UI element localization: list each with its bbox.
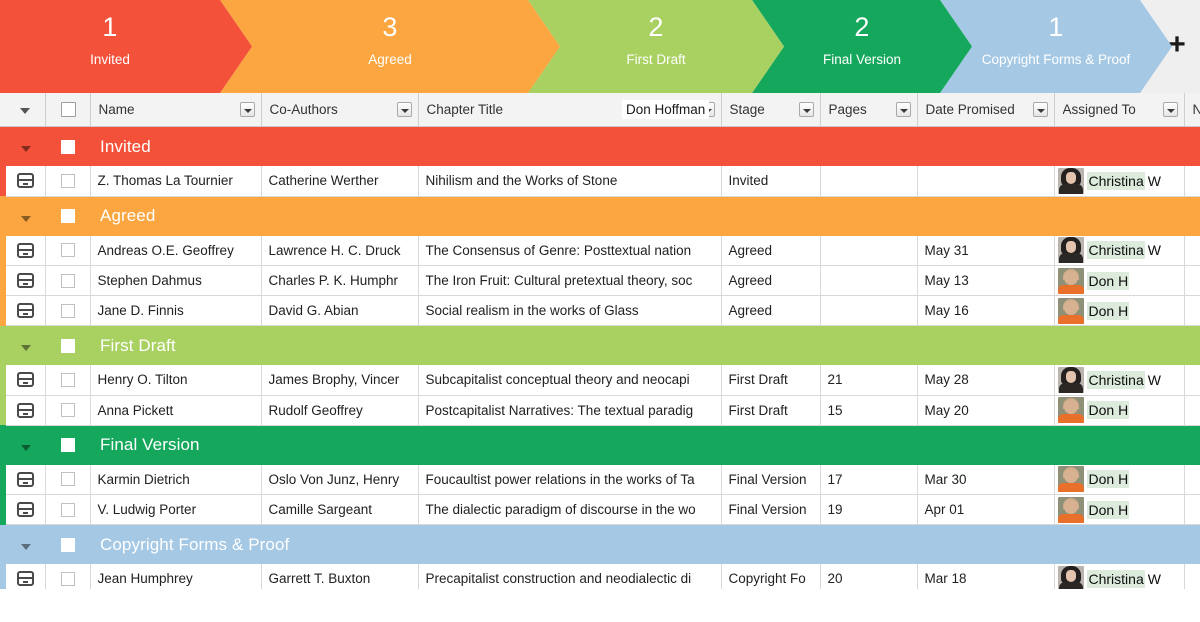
cell-notes[interactable]	[1184, 236, 1200, 266]
row-select-checkbox[interactable]	[61, 503, 75, 517]
assigned-to-name: Don H	[1087, 501, 1130, 519]
group-title-label: Copyright Forms & Proof	[90, 535, 289, 554]
cell-coauthors[interactable]: Charles P. K. Humphr	[261, 266, 418, 296]
funnel-stage-count: 1	[0, 12, 220, 42]
row-select-checkbox-cell[interactable]	[45, 465, 90, 495]
group-select-checkbox-cell[interactable]	[45, 525, 90, 565]
cell-coauthors-text: Lawrence H. C. Druck	[262, 243, 418, 258]
assigned-to-name-overflow: W	[1145, 571, 1161, 587]
cell-stage[interactable]: Invited	[721, 166, 820, 196]
cell-stage-text: Final Version	[722, 502, 820, 517]
christina-avatar	[1058, 168, 1084, 194]
caret-down-icon[interactable]	[6, 326, 45, 365]
cell-assigned-to[interactable]: Don H	[1054, 266, 1184, 296]
group-row-final-version[interactable]: Final Version	[0, 425, 1200, 465]
assigned-to-name: Don H	[1087, 470, 1130, 488]
cell-coauthors[interactable]: Oslo Von Junz, Henry	[261, 465, 418, 495]
cell-chapter-title[interactable]: Postcapitalist Narratives: The textual p…	[418, 395, 721, 425]
column-header-label: No	[1193, 102, 1200, 117]
column-header-select[interactable]	[45, 93, 90, 127]
cell-notes[interactable]	[1184, 166, 1200, 196]
cell-chapter-title[interactable]: Foucaultist power relations in the works…	[418, 465, 721, 495]
christina-avatar	[1058, 566, 1084, 592]
row-expand-cell[interactable]	[6, 296, 45, 326]
cell-notes[interactable]	[1184, 296, 1200, 326]
column-header-coauth[interactable]: Co-Authors	[261, 93, 418, 127]
cell-name-text: Jane D. Finnis	[91, 303, 261, 318]
group-title-cell: First Draft	[90, 326, 1200, 366]
group-title-label: Final Version	[90, 435, 200, 454]
cell-pages[interactable]	[820, 266, 917, 296]
cell-chapter-title-text: Foucaultist power relations in the works…	[419, 472, 721, 487]
cell-chapter-title-text: The Consensus of Genre: Posttextual nati…	[419, 243, 721, 258]
cell-name[interactable]: Stephen Dahmus	[90, 266, 261, 296]
card-view-icon[interactable]	[17, 303, 34, 318]
cell-stage[interactable]: Agreed	[721, 236, 820, 266]
column-header-notes[interactable]: No	[1184, 93, 1200, 127]
table-row[interactable]: Anna PickettRudolf GeoffreyPostcapitalis…	[0, 395, 1200, 425]
cell-chapter-title[interactable]: Subcapitalist conceptual theory and neoc…	[418, 365, 721, 395]
cell-date-promised-text: Mar 18	[918, 571, 1054, 586]
funnel-stage-count: 1	[972, 12, 1140, 42]
caret-down-icon[interactable]	[6, 426, 45, 465]
group-title-label: Invited	[90, 137, 151, 156]
cell-name-text: Z. Thomas La Tournier	[91, 173, 261, 188]
table-row[interactable]: Karmin DietrichOslo Von Junz, HenryFouca…	[0, 465, 1200, 495]
row-select-checkbox-cell[interactable]	[45, 266, 90, 296]
cell-assigned-to[interactable]: ChristinaW	[1054, 365, 1184, 395]
caret-down-icon[interactable]	[6, 127, 45, 166]
row-sort-caret-icon[interactable]	[6, 93, 45, 126]
assigned-to-name: Christina	[1087, 172, 1145, 190]
group-collapse-toggle[interactable]	[6, 425, 45, 465]
cell-name[interactable]: Jane D. Finnis	[90, 296, 261, 326]
don-avatar	[1058, 497, 1084, 523]
row-select-checkbox-cell[interactable]	[45, 166, 90, 196]
cell-date-promised-text: May 13	[918, 273, 1054, 288]
cell-pages[interactable]	[820, 166, 917, 196]
table-row[interactable]: V. Ludwig PorterCamille SargeantThe dial…	[0, 495, 1200, 525]
cell-date-promised-text: Apr 01	[918, 502, 1054, 517]
cell-stage-text: Final Version	[722, 472, 820, 487]
cell-notes[interactable]	[1184, 495, 1200, 525]
group-select-checkbox-cell[interactable]	[45, 196, 90, 236]
group-collapse-toggle[interactable]	[6, 196, 45, 236]
cell-coauthors[interactable]: Lawrence H. C. Druck	[261, 236, 418, 266]
funnel-stage-label: First Draft	[560, 51, 752, 68]
assigned-to-name: Don H	[1087, 401, 1130, 419]
cell-chapter-title-text: Social realism in the works of Glass	[419, 303, 721, 318]
group-collapse-toggle[interactable]	[6, 326, 45, 366]
group-title-cell: Copyright Forms & Proof	[90, 525, 1200, 565]
row-expand-cell[interactable]	[6, 365, 45, 395]
cell-coauthors-text: James Brophy, Vincer	[262, 372, 418, 387]
group-title-cell: Final Version	[90, 425, 1200, 465]
cell-chapter-title-text: The dialectic paradigm of discourse in t…	[419, 502, 721, 517]
group-row-invited[interactable]: Invited	[0, 127, 1200, 167]
cell-pages-text: 15	[821, 403, 917, 418]
chevron-down-icon[interactable]	[896, 102, 911, 117]
cell-chapter-title[interactable]: The Iron Fruit: Cultural pretextual theo…	[418, 266, 721, 296]
column-header-pages[interactable]: Pages	[820, 93, 917, 127]
cell-date-promised[interactable]: May 16	[917, 296, 1054, 326]
cell-chapter-title[interactable]: Nihilism and the Works of Stone	[418, 166, 721, 196]
stage-funnel-header: 1Invited3Agreed2First Draft2Final Versio…	[0, 0, 1200, 93]
cell-name-text: Stephen Dahmus	[91, 273, 261, 288]
cell-chapter-title-text: Nihilism and the Works of Stone	[419, 173, 721, 188]
cell-stage-text: Agreed	[722, 303, 820, 318]
caret-down-icon[interactable]	[6, 197, 45, 236]
cell-pages-text: 20	[821, 571, 917, 586]
cell-stage[interactable]: Agreed	[721, 266, 820, 296]
chevron-down-icon[interactable]	[1033, 102, 1048, 117]
group-select-checkbox-cell[interactable]	[45, 425, 90, 465]
row-select-checkbox-cell[interactable]	[45, 495, 90, 525]
group-collapse-toggle[interactable]	[6, 127, 45, 167]
cell-stage-text: Agreed	[722, 273, 820, 288]
cell-assigned-to[interactable]: Don H	[1054, 495, 1184, 525]
cell-stage-text: First Draft	[722, 372, 820, 387]
cell-stage-text: First Draft	[722, 403, 820, 418]
funnel-stage-copyright-forms-proof[interactable]: 1Copyright Forms & Proof	[940, 0, 1172, 93]
column-header-stage[interactable]: Stage	[721, 93, 820, 127]
row-select-checkbox-cell[interactable]	[45, 296, 90, 326]
column-header-label: Pages	[829, 102, 867, 117]
chevron-down-icon[interactable]	[240, 102, 255, 117]
column-header-label: Assigned To	[1063, 102, 1136, 117]
card-view-icon[interactable]	[17, 273, 34, 288]
group-collapse-toggle[interactable]	[6, 525, 45, 565]
funnel-stage-count: 2	[784, 12, 940, 42]
row-select-checkbox-cell[interactable]	[45, 236, 90, 266]
table-row[interactable]: Henry O. TiltonJames Brophy, VincerSubca…	[0, 365, 1200, 395]
row-expand-cell[interactable]	[6, 495, 45, 525]
card-view-icon[interactable]	[17, 571, 34, 586]
column-header-label: Stage	[730, 102, 765, 117]
row-select-checkbox[interactable]	[61, 243, 75, 257]
cell-notes[interactable]	[1184, 266, 1200, 296]
group-title-label: First Draft	[90, 336, 176, 355]
cell-coauthors[interactable]: David G. Abian	[261, 296, 418, 326]
cell-date-promised-text: Mar 30	[918, 472, 1054, 487]
cell-assigned-to[interactable]: ChristinaW	[1054, 166, 1184, 196]
row-select-checkbox[interactable]	[61, 304, 75, 318]
cell-stage-text: Agreed	[722, 243, 820, 258]
chevron-down-icon[interactable]	[799, 102, 814, 117]
table-row[interactable]: Andreas O.E. GeoffreyLawrence H. C. Druc…	[0, 236, 1200, 266]
column-header-date[interactable]: Date Promised	[917, 93, 1054, 127]
cell-coauthors-text: Catherine Werther	[262, 173, 418, 188]
grid-empty-area	[0, 589, 1200, 622]
cell-assigned-to[interactable]: Don H	[1054, 465, 1184, 495]
column-header-label: Date Promised	[926, 102, 1015, 117]
group-select-checkbox[interactable]	[61, 140, 75, 154]
cell-name[interactable]: Andreas O.E. Geoffrey	[90, 236, 261, 266]
card-view-icon[interactable]	[17, 472, 34, 487]
column-header-label: Name	[99, 102, 135, 117]
cell-name[interactable]: Henry O. Tilton	[90, 365, 261, 395]
don-avatar	[1058, 466, 1084, 492]
table-row[interactable]: Stephen DahmusCharles P. K. HumphrThe Ir…	[0, 266, 1200, 296]
cell-pages[interactable]: 15	[820, 395, 917, 425]
card-view-icon[interactable]	[17, 243, 34, 258]
row-select-checkbox-cell[interactable]	[45, 365, 90, 395]
row-expand-cell[interactable]	[6, 236, 45, 266]
group-select-checkbox[interactable]	[61, 209, 75, 223]
card-view-icon[interactable]	[17, 173, 34, 188]
group-title-cell: Agreed	[90, 196, 1200, 236]
group-row-first-draft[interactable]: First Draft	[0, 326, 1200, 366]
card-view-icon[interactable]	[17, 372, 34, 387]
cell-pages-text: 19	[821, 502, 917, 517]
group-title-label: Agreed	[90, 206, 155, 225]
cell-stage-text: Invited	[722, 173, 820, 188]
group-select-checkbox-cell[interactable]	[45, 127, 90, 167]
assigned-to-name: Christina	[1087, 241, 1145, 259]
cell-date-promised[interactable]: May 20	[917, 395, 1054, 425]
row-select-checkbox[interactable]	[61, 373, 75, 387]
cell-name-text: Henry O. Tilton	[91, 372, 261, 387]
row-select-checkbox[interactable]	[61, 472, 75, 486]
cell-coauthors[interactable]: James Brophy, Vincer	[261, 365, 418, 395]
cell-date-promised[interactable]: Apr 01	[917, 495, 1054, 525]
cell-name[interactable]: Anna Pickett	[90, 395, 261, 425]
cell-date-promised[interactable]: May 28	[917, 365, 1054, 395]
cell-date-promised[interactable]: Mar 30	[917, 465, 1054, 495]
cell-pages-text: 17	[821, 472, 917, 487]
row-select-checkbox[interactable]	[61, 403, 75, 417]
cell-stage-text: Copyright Fo	[722, 571, 820, 586]
row-expand-cell[interactable]	[6, 395, 45, 425]
floating-column-label: Don Hoffman	[622, 100, 709, 119]
cell-coauthors-text: Camille Sargeant	[262, 502, 418, 517]
cell-date-promised-text: May 28	[918, 372, 1054, 387]
funnel-stage-agreed[interactable]: 3Agreed	[220, 0, 560, 93]
row-select-checkbox-cell[interactable]	[45, 395, 90, 425]
cell-chapter-title-text: Subcapitalist conceptual theory and neoc…	[419, 372, 721, 387]
assigned-to-name: Don H	[1087, 272, 1130, 290]
cell-chapter-title-text: Precapitalist construction and neodialec…	[419, 571, 721, 586]
funnel-stage-final-version[interactable]: 2Final Version	[752, 0, 972, 93]
cell-date-promised-text: May 20	[918, 403, 1054, 418]
cell-date-promised[interactable]: May 31	[917, 236, 1054, 266]
group-row-copyright-forms-proof[interactable]: Copyright Forms & Proof	[0, 525, 1200, 565]
sheet-table: NameCo-AuthorsChapter TitleStagePagesDat…	[0, 93, 1200, 595]
assigned-to-name: Christina	[1087, 371, 1145, 389]
cell-date-promised-text: May 31	[918, 243, 1054, 258]
funnel-stage-label: Copyright Forms & Proof	[972, 51, 1140, 68]
group-select-checkbox[interactable]	[61, 538, 75, 552]
funnel-stage-first-draft[interactable]: 2First Draft	[528, 0, 784, 93]
column-header-assign[interactable]: Assigned To	[1054, 93, 1184, 127]
chevron-down-icon[interactable]	[1163, 102, 1178, 117]
cell-notes[interactable]	[1184, 365, 1200, 395]
cell-name-text: Andreas O.E. Geoffrey	[91, 243, 261, 258]
cell-coauthors-text: David G. Abian	[262, 303, 418, 318]
don-avatar	[1058, 298, 1084, 324]
cell-chapter-title[interactable]: The Consensus of Genre: Posttextual nati…	[418, 236, 721, 266]
funnel-stage-invited[interactable]: 1Invited	[0, 0, 252, 93]
cell-assigned-to[interactable]: Don H	[1054, 296, 1184, 326]
cell-notes[interactable]	[1184, 465, 1200, 495]
assigned-to-name-overflow: W	[1145, 173, 1161, 189]
cell-pages[interactable]: 19	[820, 495, 917, 525]
cell-stage[interactable]: Final Version	[721, 495, 820, 525]
cell-name-text: Anna Pickett	[91, 403, 261, 418]
cell-chapter-title-text: The Iron Fruit: Cultural pretextual theo…	[419, 273, 721, 288]
column-header-name[interactable]: Name	[90, 93, 261, 127]
caret-down-icon[interactable]	[6, 525, 45, 564]
cell-date-promised[interactable]: May 13	[917, 266, 1054, 296]
assigned-to-name: Don H	[1087, 302, 1130, 320]
cell-chapter-title[interactable]: The dialectic paradigm of discourse in t…	[418, 495, 721, 525]
assigned-to-name: Christina	[1087, 570, 1145, 588]
funnel-stage-label: Invited	[0, 51, 220, 68]
cell-chapter-title-text: Postcapitalist Narratives: The textual p…	[419, 403, 721, 418]
don-avatar	[1058, 268, 1084, 294]
card-view-icon[interactable]	[17, 403, 34, 418]
cell-date-promised-text: May 16	[918, 303, 1054, 318]
row-expand-cell[interactable]	[6, 465, 45, 495]
cell-pages[interactable]: 21	[820, 365, 917, 395]
row-expand-cell[interactable]	[6, 266, 45, 296]
row-select-checkbox[interactable]	[61, 174, 75, 188]
don-avatar	[1058, 397, 1084, 423]
cell-name-text: V. Ludwig Porter	[91, 502, 261, 517]
column-header-label: Chapter Title	[427, 102, 504, 117]
group-row-agreed[interactable]: Agreed	[0, 196, 1200, 236]
assigned-to-name-overflow: W	[1145, 242, 1161, 258]
cell-assigned-to[interactable]: Don H	[1054, 395, 1184, 425]
cell-coauthors-text: Garrett T. Buxton	[262, 571, 418, 586]
row-select-checkbox[interactable]	[61, 274, 75, 288]
cell-coauthors-text: Oslo Von Junz, Henry	[262, 472, 418, 487]
cell-stage[interactable]: First Draft	[721, 365, 820, 395]
assigned-to-name-overflow: W	[1145, 372, 1161, 388]
cell-coauthors[interactable]: Rudolf Geoffrey	[261, 395, 418, 425]
cell-name[interactable]: V. Ludwig Porter	[90, 495, 261, 525]
cell-name[interactable]: Z. Thomas La Tournier	[90, 166, 261, 196]
funnel-stage-label: Agreed	[252, 51, 528, 68]
column-header-row: NameCo-AuthorsChapter TitleStagePagesDat…	[0, 93, 1200, 127]
cell-coauthors[interactable]: Catherine Werther	[261, 166, 418, 196]
funnel-stage-label: Final Version	[784, 51, 940, 68]
group-title-cell: Invited	[90, 127, 1200, 167]
row-select-checkbox[interactable]	[61, 572, 75, 586]
cell-pages[interactable]	[820, 236, 917, 266]
cell-chapter-title[interactable]: Social realism in the works of Glass	[418, 296, 721, 326]
cell-name-text: Karmin Dietrich	[91, 472, 261, 487]
cell-pages[interactable]	[820, 296, 917, 326]
column-header-rowicon[interactable]	[6, 93, 45, 127]
group-select-checkbox[interactable]	[61, 339, 75, 353]
christina-avatar	[1058, 237, 1084, 263]
sheet-grid: NameCo-AuthorsChapter TitleStagePagesDat…	[0, 93, 1200, 622]
select-all-checkbox[interactable]	[61, 102, 76, 117]
cell-coauthors[interactable]: Camille Sargeant	[261, 495, 418, 525]
column-header-label: Co-Authors	[270, 102, 338, 117]
funnel-stage-count: 2	[560, 12, 752, 42]
group-select-checkbox-cell[interactable]	[45, 326, 90, 366]
cell-coauthors-text: Rudolf Geoffrey	[262, 403, 418, 418]
table-row[interactable]: Z. Thomas La TournierCatherine WertherNi…	[0, 166, 1200, 196]
cell-assigned-to[interactable]: ChristinaW	[1054, 236, 1184, 266]
cell-stage[interactable]: Final Version	[721, 465, 820, 495]
chevron-down-icon[interactable]	[397, 102, 412, 117]
cell-date-promised[interactable]	[917, 166, 1054, 196]
row-expand-cell[interactable]	[6, 166, 45, 196]
card-view-icon[interactable]	[17, 502, 34, 517]
cell-stage[interactable]: First Draft	[721, 395, 820, 425]
group-select-checkbox[interactable]	[61, 438, 75, 452]
cell-name[interactable]: Karmin Dietrich	[90, 465, 261, 495]
cell-pages[interactable]: 17	[820, 465, 917, 495]
cell-stage[interactable]: Agreed	[721, 296, 820, 326]
cell-coauthors-text: Charles P. K. Humphr	[262, 273, 418, 288]
cell-name-text: Jean Humphrey	[91, 571, 261, 586]
christina-avatar	[1058, 367, 1084, 393]
table-row[interactable]: Jane D. FinnisDavid G. AbianSocial reali…	[0, 296, 1200, 326]
cell-notes[interactable]	[1184, 395, 1200, 425]
funnel-stage-count: 3	[252, 12, 528, 42]
cell-pages-text: 21	[821, 372, 917, 387]
